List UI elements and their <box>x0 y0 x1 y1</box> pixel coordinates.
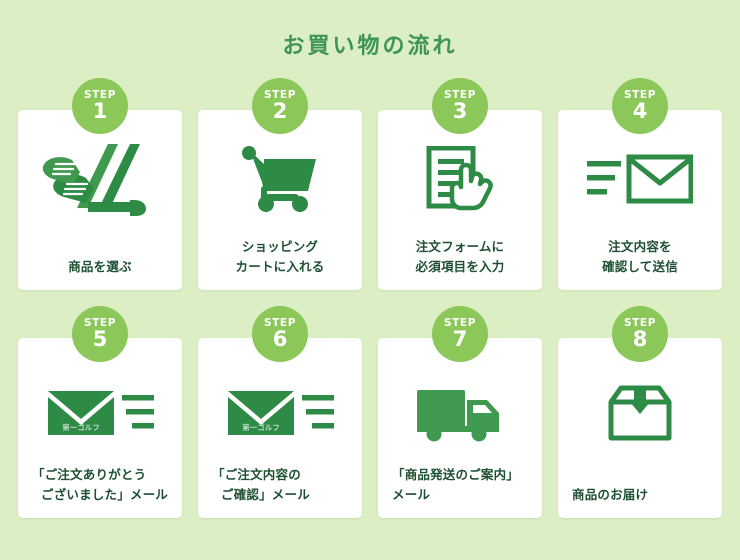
envelope-filled: 第一ゴルフ <box>48 391 114 435</box>
step-badge-number: 1 <box>93 101 108 122</box>
golf-clubs-icon <box>18 136 182 222</box>
envelope-filled: 第一ゴルフ <box>228 391 294 435</box>
step-badge-1: STEP 1 <box>72 78 128 134</box>
caption-line-2: メール <box>392 485 530 504</box>
steps-grid: STEP 1 <box>18 110 722 518</box>
motion-lines <box>587 161 621 195</box>
caption-line-1: 商品を選ぶ <box>68 259 132 274</box>
motion-lines <box>122 395 154 429</box>
step-badge-4: STEP 4 <box>612 78 668 134</box>
caption-line-2: 必須項目を入力 <box>390 257 530 276</box>
caption-line-1: 商品のお届け <box>572 487 648 502</box>
package-box-icon <box>558 370 722 456</box>
step-card-8: STEP 8 商品のお届け <box>558 338 722 518</box>
caption-line-1: 「ご注文内容の <box>212 467 301 482</box>
step-badge-6: STEP 6 <box>252 306 308 362</box>
step-card-2: STEP 2 ショッピング カートに入れる <box>198 110 362 290</box>
order-form-hand-icon <box>378 136 542 222</box>
send-mail-icon <box>558 136 722 222</box>
receive-mail-icon: 第一ゴルフ <box>18 370 182 456</box>
caption-line-1: 「商品発送のご案内」 <box>392 467 519 482</box>
step-badge-number: 6 <box>273 329 288 350</box>
caption-line-2: カートに入れる <box>210 257 350 276</box>
step-caption-3: 注文フォームに 必須項目を入力 <box>378 237 542 290</box>
step-caption-5: 「ご注文ありがとう ございました」メール <box>18 465 182 518</box>
caption-line-1: ショッピング <box>242 239 318 254</box>
step-caption-2: ショッピング カートに入れる <box>198 237 362 290</box>
step-badge-number: 3 <box>453 101 468 122</box>
step-badge-number: 8 <box>633 329 648 350</box>
step-card-4: STEP 4 注文内容を 確認して送信 <box>558 110 722 290</box>
step-caption-1: 商品を選ぶ <box>18 257 182 290</box>
caption-line-2: ございました」メール <box>32 485 170 504</box>
step-card-3: STEP 3 注文フォームに <box>378 110 542 290</box>
caption-line-1: 「ご注文ありがとう <box>32 467 146 482</box>
step-card-6: STEP 6 第一ゴルフ 「ご注文 <box>198 338 362 518</box>
step-card-7: STEP 7 「商品発送のご案内」 <box>378 338 542 518</box>
shopping-cart-icon <box>198 136 362 222</box>
page-title: お買い物の流れ <box>0 28 740 60</box>
step-caption-6: 「ご注文内容の ご確認」メール <box>198 465 362 518</box>
envelope-brand-text: 第一ゴルフ <box>242 422 280 432</box>
step-caption-4: 注文内容を 確認して送信 <box>558 237 722 290</box>
step-badge-number: 2 <box>273 101 288 122</box>
step-caption-8: 商品のお届け <box>558 485 722 518</box>
receive-mail-icon: 第一ゴルフ <box>198 370 362 456</box>
caption-line-2: 確認して送信 <box>570 257 710 276</box>
step-card-1: STEP 1 <box>18 110 182 290</box>
step-badge-2: STEP 2 <box>252 78 308 134</box>
step-badge-number: 4 <box>633 101 648 122</box>
step-badge-5: STEP 5 <box>72 306 128 362</box>
shopping-flow-infographic: お買い物の流れ STEP 1 <box>0 0 740 560</box>
step-badge-7: STEP 7 <box>432 306 488 362</box>
step-badge-3: STEP 3 <box>432 78 488 134</box>
envelope-brand-text: 第一ゴルフ <box>62 422 100 432</box>
step-caption-7: 「商品発送のご案内」 メール <box>378 465 542 518</box>
delivery-truck-icon <box>378 370 542 456</box>
caption-line-1: 注文フォームに <box>416 239 505 254</box>
step-badge-8: STEP 8 <box>612 306 668 362</box>
envelope-outline <box>629 157 691 201</box>
caption-line-2: ご確認」メール <box>212 485 350 504</box>
caption-line-1: 注文内容を <box>608 239 672 254</box>
step-badge-number: 5 <box>93 329 108 350</box>
motion-lines <box>302 395 334 429</box>
step-card-5: STEP 5 第一ゴルフ 「ご注文 <box>18 338 182 518</box>
step-badge-number: 7 <box>453 329 468 350</box>
